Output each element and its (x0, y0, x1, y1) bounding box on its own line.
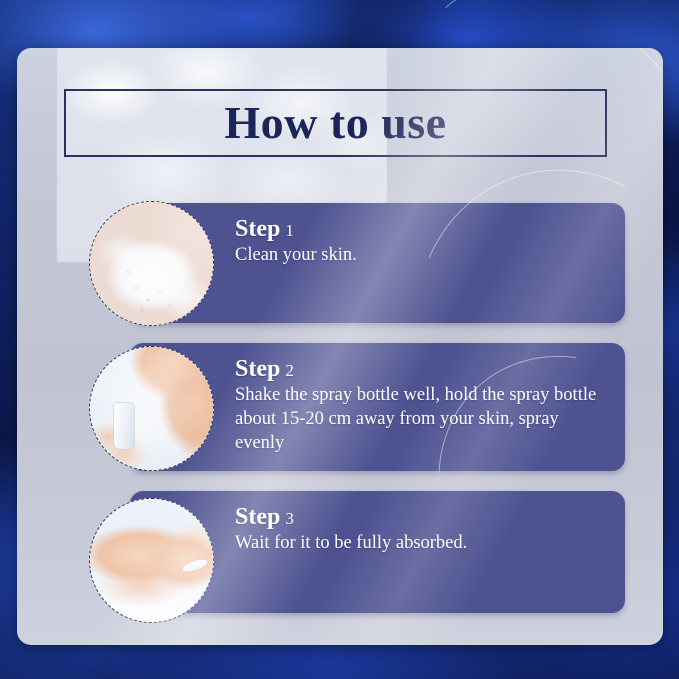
step-row: Step3 Wait for it to be fully absorbed. (17, 48, 663, 645)
step-title-3: Step3 (235, 505, 609, 530)
step-thumbnail-3 (89, 498, 214, 623)
instruction-card: How to use Step1 Clean your skin. (17, 48, 663, 645)
step-description-3: Wait for it to be fully absorbed. (235, 532, 609, 556)
step-number: 3 (285, 509, 294, 528)
absorbed-skin-photo (90, 499, 213, 622)
step-label: Step (235, 504, 280, 530)
